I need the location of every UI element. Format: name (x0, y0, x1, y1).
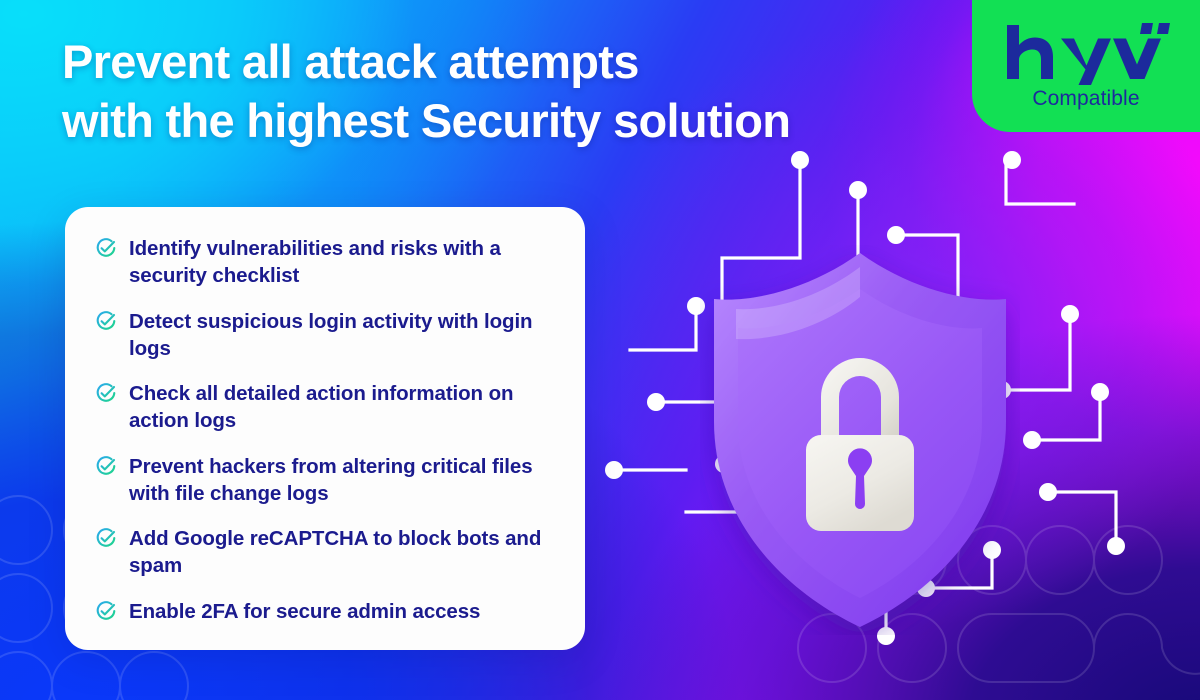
check-circle-icon (95, 310, 117, 332)
list-item: Check all detailed action information on… (95, 380, 561, 435)
hyva-badge-subtitle: Compatible (1032, 88, 1139, 109)
feature-list: Identify vulnerabilities and risks with … (95, 235, 561, 625)
feature-list-card: Identify vulnerabilities and risks with … (65, 207, 585, 650)
list-item-label: Identify vulnerabilities and risks with … (129, 235, 561, 290)
list-item-label: Enable 2FA for secure admin access (129, 598, 480, 625)
list-item-label: Prevent hackers from altering critical f… (129, 453, 561, 508)
list-item: Enable 2FA for secure admin access (95, 598, 561, 625)
page-title: Prevent all attack attempts with the hig… (62, 32, 942, 150)
check-circle-icon (95, 455, 117, 477)
security-promo-banner: Prevent all attack attempts with the hig… (0, 0, 1200, 700)
list-item: Prevent hackers from altering critical f… (95, 453, 561, 508)
headline-line-1: Prevent all attack attempts (62, 32, 942, 91)
list-item: Identify vulnerabilities and risks with … (95, 235, 561, 290)
list-item-label: Detect suspicious login activity with lo… (129, 308, 561, 363)
hyva-compatible-badge: Compatible (972, 0, 1200, 132)
check-circle-icon (95, 527, 117, 549)
check-circle-icon (95, 237, 117, 259)
list-item: Detect suspicious login activity with lo… (95, 308, 561, 363)
shield-illustration (700, 245, 1020, 635)
list-item-label: Check all detailed action information on… (129, 380, 561, 435)
list-item-label: Add Google reCAPTCHA to block bots and s… (129, 525, 561, 580)
check-circle-icon (95, 382, 117, 404)
hyva-logo-icon (1001, 23, 1171, 85)
check-circle-icon (95, 600, 117, 622)
headline-line-2: with the highest Security solution (62, 91, 942, 150)
list-item: Add Google reCAPTCHA to block bots and s… (95, 525, 561, 580)
